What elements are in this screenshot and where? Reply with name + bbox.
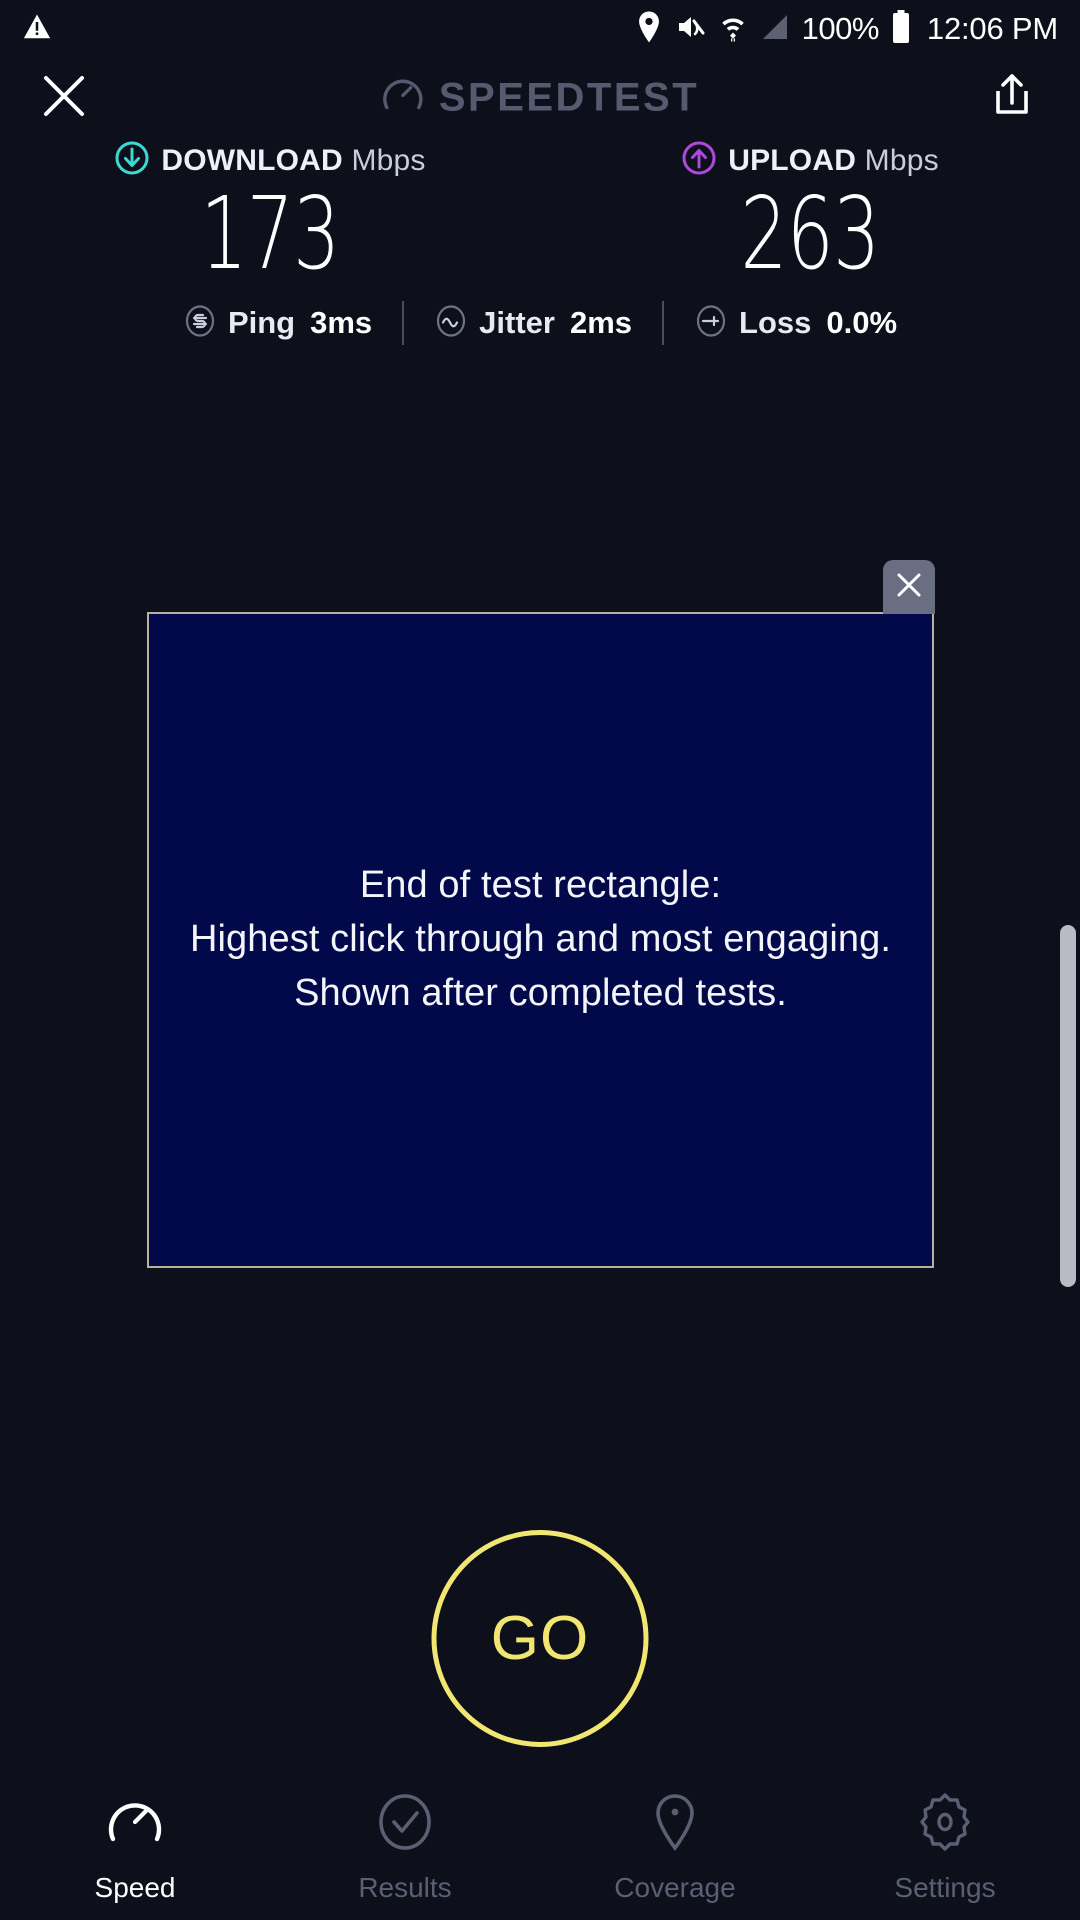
nav-item-settings[interactable]: Settings [810, 1775, 1080, 1920]
nav-item-coverage[interactable]: Coverage [540, 1775, 810, 1920]
jitter-label: Jitter [479, 305, 555, 341]
ping-value: 3ms [310, 305, 372, 341]
close-icon [894, 570, 924, 605]
ping-stat: Ping 3ms [153, 304, 402, 343]
advertisement-banner[interactable]: End of test rectangle: Highest click thr… [147, 612, 934, 1268]
nav-label-speed: Speed [95, 1872, 176, 1904]
download-metric: DOWNLOAD Mbps 173 [0, 140, 540, 285]
close-button[interactable] [36, 70, 92, 126]
nav-label-coverage: Coverage [614, 1872, 735, 1904]
speedometer-icon [104, 1791, 166, 1858]
share-icon [990, 72, 1034, 125]
scrollbar-thumb[interactable] [1060, 925, 1076, 1287]
loss-label: Loss [739, 305, 811, 341]
loss-stat: Loss 0.0% [664, 304, 927, 343]
download-label: DOWNLOAD Mbps [161, 144, 425, 178]
download-arrow-icon [114, 140, 150, 181]
warning-triangle-icon [22, 12, 52, 47]
speedtest-app: 100% 12:06 PM SPEEDTEST [0, 0, 1080, 1920]
loss-icon [694, 304, 728, 343]
location-pin-icon [644, 1791, 706, 1858]
cellular-signal-icon [760, 12, 790, 47]
nav-item-results[interactable]: Results [270, 1775, 540, 1920]
connection-stats-row: Ping 3ms Jitter 2ms [0, 301, 1080, 345]
results-panel: DOWNLOAD Mbps 173 UPLOAD Mbps 263 [0, 140, 1080, 345]
speedometer-icon [381, 74, 425, 123]
upload-metric: UPLOAD Mbps 263 [540, 140, 1080, 285]
nav-label-settings: Settings [894, 1872, 995, 1904]
share-button[interactable] [984, 70, 1040, 126]
upload-value: 263 [740, 183, 879, 285]
gear-icon [914, 1791, 976, 1858]
volume-muted-icon [674, 11, 706, 48]
upload-label: UPLOAD Mbps [728, 144, 939, 178]
page-title: SPEEDTEST [439, 76, 699, 121]
location-pin-icon [636, 11, 662, 48]
battery-percent-label: 100% [802, 11, 879, 47]
jitter-value: 2ms [570, 305, 632, 341]
upload-arrow-icon [681, 140, 717, 181]
check-circle-icon [374, 1791, 436, 1858]
ping-label: Ping [228, 305, 295, 341]
ping-icon [183, 304, 217, 343]
go-button[interactable]: GO [432, 1530, 649, 1747]
battery-full-icon [891, 10, 911, 49]
clock-label: 12:06 PM [927, 11, 1058, 47]
ad-text: End of test rectangle: Highest click thr… [190, 859, 891, 1021]
status-bar: 100% 12:06 PM [0, 0, 1080, 58]
jitter-icon [434, 304, 468, 343]
ad-close-button[interactable] [883, 560, 935, 614]
speed-row: DOWNLOAD Mbps 173 UPLOAD Mbps 263 [0, 140, 1080, 285]
download-value: 173 [200, 183, 339, 285]
bottom-navigation: Speed Results Coverage [0, 1775, 1080, 1920]
loss-value: 0.0% [826, 305, 897, 341]
close-icon [41, 73, 87, 124]
brand-logo: SPEEDTEST [381, 74, 699, 123]
nav-label-results: Results [358, 1872, 451, 1904]
app-header: SPEEDTEST [0, 58, 1080, 138]
go-button-label: GO [491, 1603, 589, 1674]
wifi-icon [718, 11, 748, 48]
nav-item-speed[interactable]: Speed [0, 1775, 270, 1920]
jitter-stat: Jitter 2ms [404, 304, 662, 343]
